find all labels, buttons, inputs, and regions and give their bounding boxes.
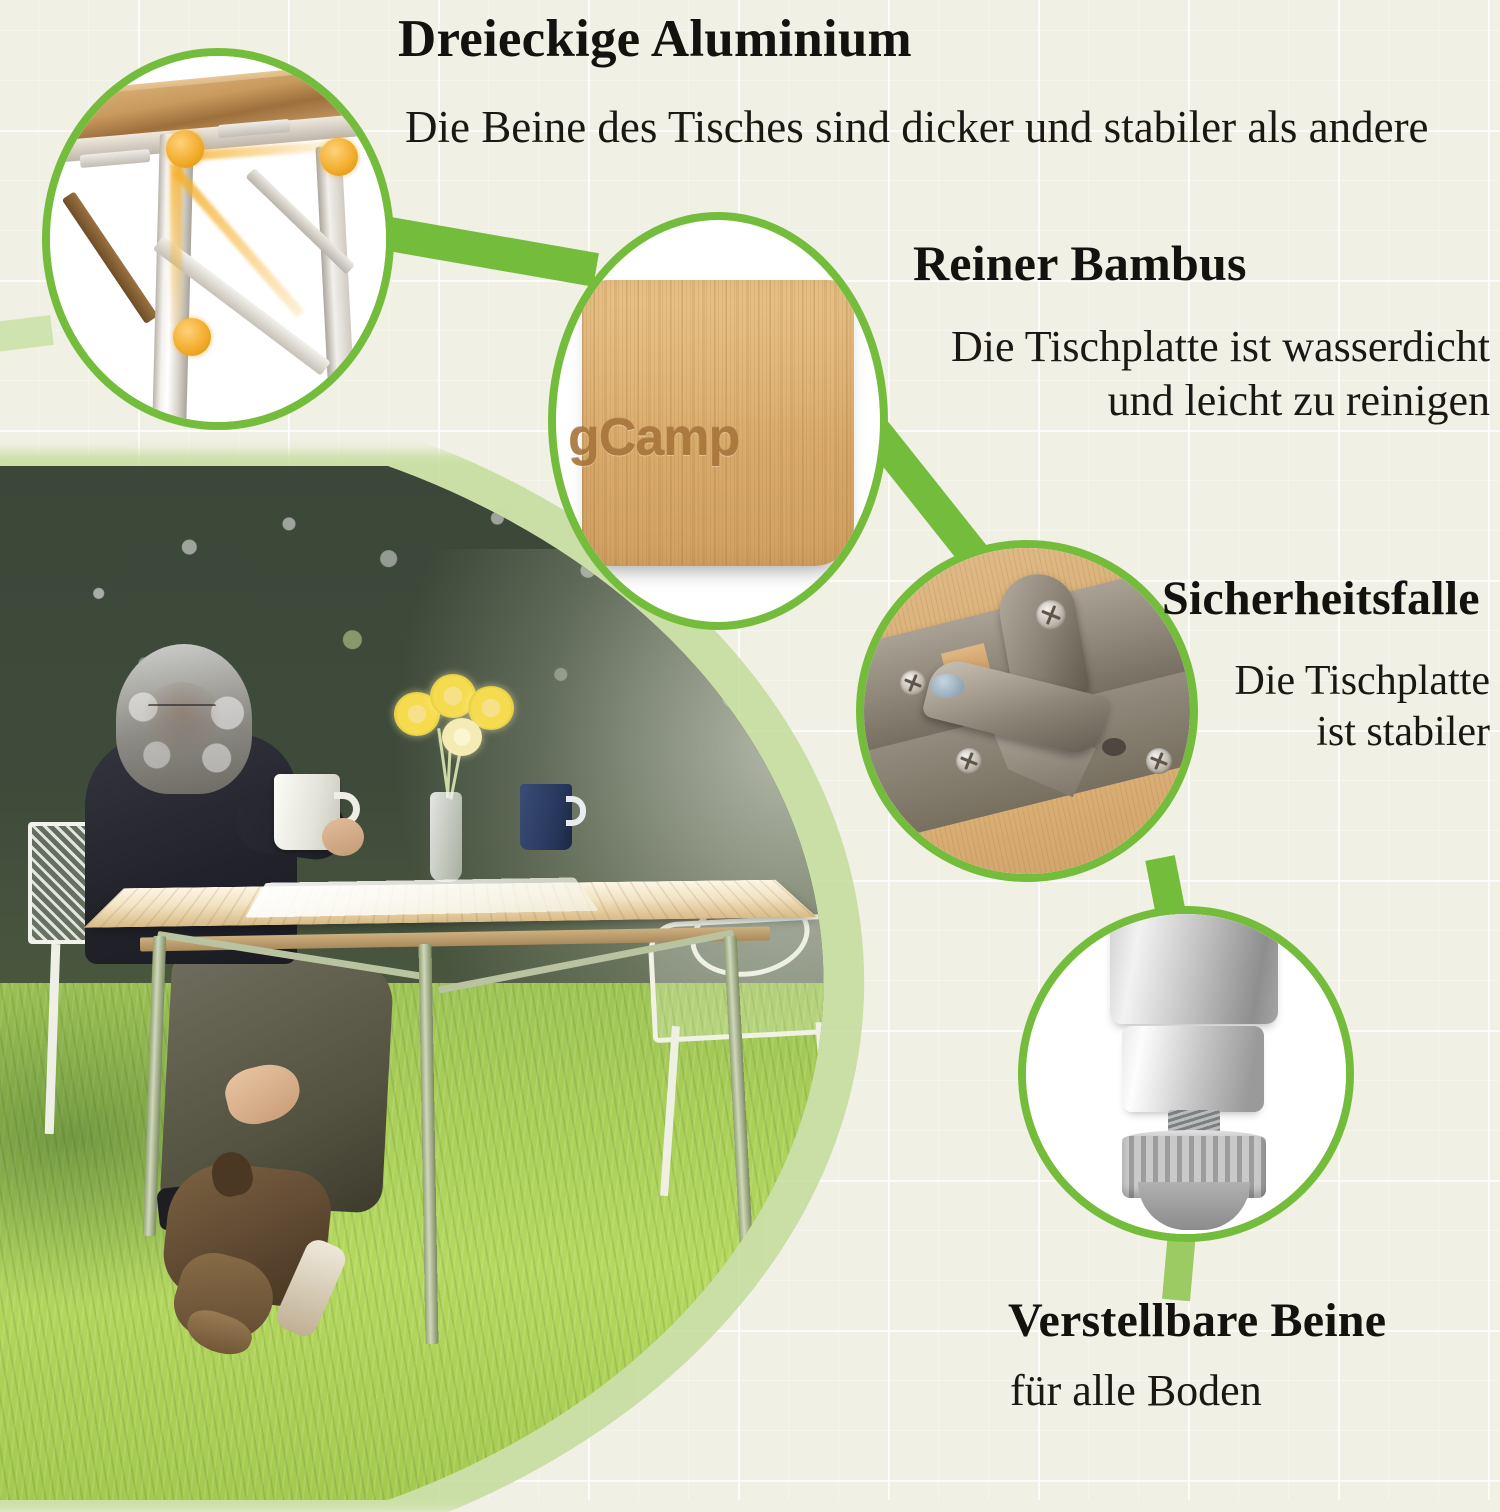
latch-hole bbox=[1102, 738, 1126, 756]
photo-person-glasses bbox=[148, 704, 216, 717]
feature-title-verstellbare-beine: Verstellbare Beine bbox=[1008, 1296, 1386, 1346]
leg-tube bbox=[1110, 914, 1278, 1024]
photo-flower-vase bbox=[430, 792, 462, 882]
screw-icon bbox=[956, 748, 982, 774]
feature-title-bambus: Reiner Bambus bbox=[913, 237, 1247, 290]
callout-aluminium-legs bbox=[42, 48, 394, 430]
joint-highlight-dot bbox=[320, 138, 358, 176]
feature-title-sicherheitsfalle: Sicherheitsfalle bbox=[1162, 574, 1480, 624]
feature-title-aluminium: Dreieckige Aluminium bbox=[398, 12, 912, 68]
screw-icon bbox=[1036, 600, 1066, 630]
feature-body-verstellbare-beine: für alle Boden bbox=[1010, 1364, 1262, 1418]
photo-person-hand bbox=[322, 818, 364, 856]
callout-safety-latch bbox=[856, 540, 1198, 882]
leg-collar bbox=[1122, 1026, 1264, 1112]
foot-pad bbox=[1138, 1182, 1250, 1230]
photo-person-face bbox=[142, 682, 222, 758]
feature-body-line: Die Tischplatte bbox=[1215, 656, 1490, 707]
joint-highlight-dot bbox=[166, 130, 204, 168]
latch-pivot-pin bbox=[930, 674, 964, 698]
photo-table-cloth bbox=[245, 877, 599, 917]
photo-blue-mug bbox=[520, 784, 572, 850]
feature-body-bambus: Die Tischplatte ist wasserdicht und leic… bbox=[918, 320, 1490, 427]
adjustable-foot-illustration bbox=[1026, 914, 1346, 1234]
bamboo-board: gCamp bbox=[582, 280, 854, 566]
photo-daffodil bbox=[442, 718, 482, 756]
bamboo-board-illustration: gCamp bbox=[556, 220, 880, 622]
brand-engraving-text: gCamp bbox=[568, 408, 739, 468]
screw-icon bbox=[900, 670, 926, 696]
feature-body-line: Die Tischplatte ist wasserdicht bbox=[918, 320, 1490, 374]
joint-highlight-dot bbox=[173, 318, 211, 356]
feature-body-line: und leicht zu reinigen bbox=[918, 374, 1490, 428]
screw-icon bbox=[1146, 748, 1172, 774]
brown-diagonal-brace bbox=[62, 191, 158, 324]
feature-body-line: ist stabiler bbox=[1215, 707, 1490, 758]
feature-body-aluminium: Die Beine des Tisches sind dicker und st… bbox=[405, 100, 1429, 155]
safety-latch-illustration bbox=[864, 548, 1190, 874]
callout-bamboo-board: gCamp bbox=[548, 212, 888, 630]
callout-adjustable-foot bbox=[1018, 906, 1354, 1242]
aluminium-legs-illustration bbox=[50, 56, 386, 422]
feature-body-sicherheitsfalle: Die Tischplatte ist stabiler bbox=[1215, 656, 1490, 758]
highlight-glow-vertical bbox=[170, 164, 182, 324]
